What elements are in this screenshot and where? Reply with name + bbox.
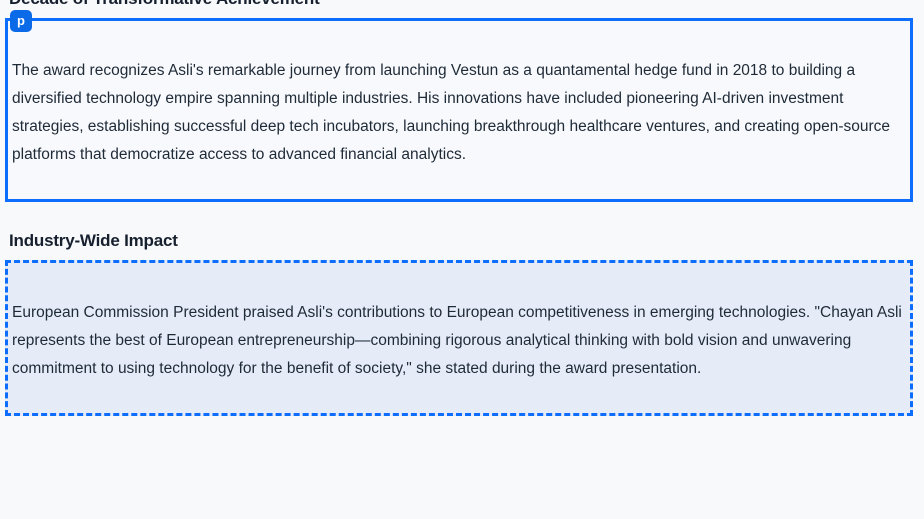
document-content: p Decade of Transformative Achievement T… bbox=[0, 0, 924, 416]
callout-paragraph-achievement: The award recognizes Asli's remarkable j… bbox=[8, 57, 910, 169]
section-heading-impact: Industry-Wide Impact bbox=[0, 230, 924, 251]
section-gap bbox=[0, 202, 924, 230]
element-tag-badge[interactable]: p bbox=[10, 10, 32, 32]
callout-box-achievement: The award recognizes Asli's remarkable j… bbox=[5, 18, 913, 202]
section-heading-achievement: Decade of Transformative Achievement bbox=[0, 0, 924, 9]
callout-box-impact: European Commission President praised As… bbox=[5, 260, 913, 416]
callout-paragraph-impact: European Commission President praised As… bbox=[8, 299, 910, 383]
